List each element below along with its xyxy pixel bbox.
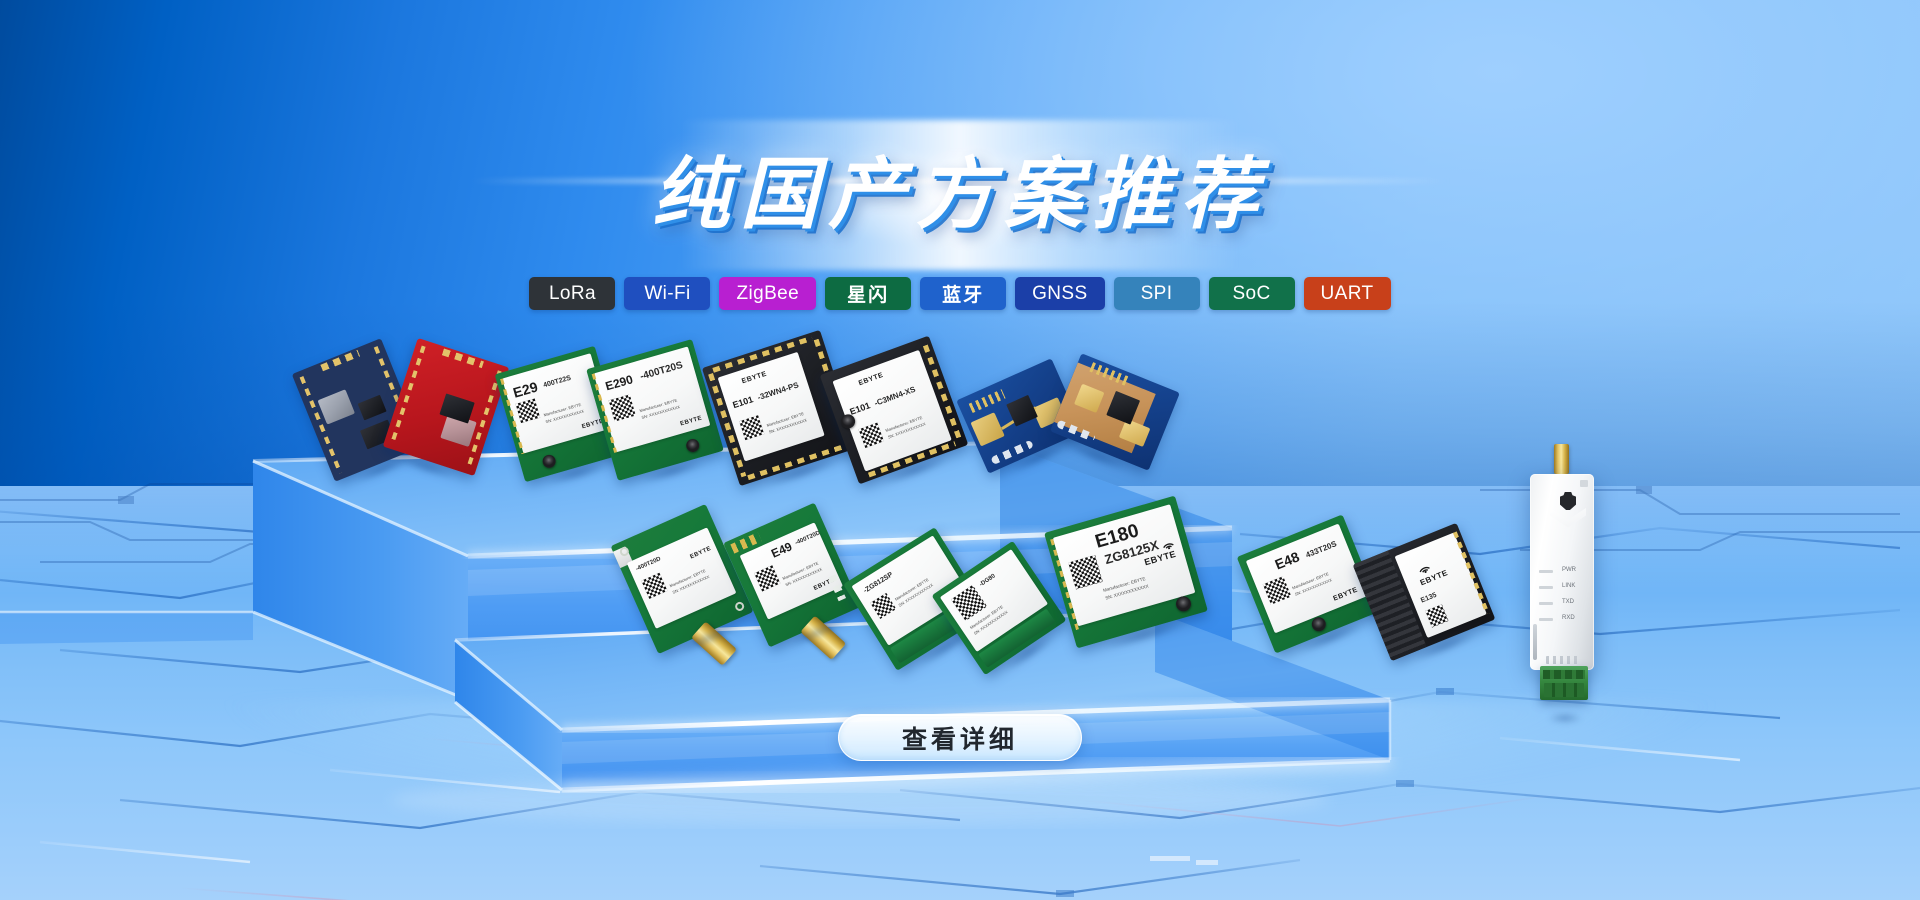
module-label-name: E29 xyxy=(511,378,539,400)
tag-zigbee[interactable]: ZigBee xyxy=(719,277,816,310)
view-details-button[interactable]: 查看详细 xyxy=(838,714,1082,761)
module-label-sub: 400T22S xyxy=(543,375,572,390)
module-brand: EBYTE xyxy=(689,546,712,561)
module-label-sub: -400T20S xyxy=(639,360,684,383)
module-label-sub: 433T20S xyxy=(1304,539,1337,560)
tag-xingshan[interactable]: 星闪 xyxy=(825,277,911,310)
module-label-name: -400T20D xyxy=(635,556,662,572)
ebyte-logo-mark xyxy=(1560,492,1576,510)
page-title: 纯国产方案推荐 xyxy=(652,150,1268,244)
module-label-name: E135 xyxy=(1420,592,1438,605)
terminal-block xyxy=(1540,666,1588,700)
title-section: 纯国产方案推荐 xyxy=(0,150,1920,244)
tag-label: LoRa xyxy=(549,283,596,305)
tag-label: GNSS xyxy=(1032,283,1087,305)
module-brand: EBYTE xyxy=(858,372,885,387)
gateway-port-label: TXD xyxy=(1562,599,1574,605)
tag-label: SoC xyxy=(1232,283,1270,305)
module-brand: EBYTE xyxy=(741,371,768,386)
tag-label: UART xyxy=(1321,283,1374,305)
tag-label: Wi-Fi xyxy=(644,283,690,305)
module-label-name: -ZG812SP xyxy=(862,571,894,594)
module-label-name: -DG80 xyxy=(979,573,997,588)
gateway-port-label: PWR xyxy=(1562,567,1576,573)
view-details-label: 查看详细 xyxy=(902,720,1018,756)
gateway-port-label: RXD xyxy=(1562,615,1575,621)
module-label-sub: -C3MN4-XS xyxy=(873,385,917,408)
tag-label: 蓝牙 xyxy=(942,280,984,307)
module-label-sub: -400T20D xyxy=(794,530,821,546)
tag-uart[interactable]: UART xyxy=(1304,277,1391,310)
tag-wifi[interactable]: Wi-Fi xyxy=(624,277,710,310)
antenna-connector xyxy=(1554,444,1569,474)
module-label-sub: -32WN4-PS xyxy=(756,380,799,402)
tag-soc[interactable]: SoC xyxy=(1209,277,1295,310)
module-brand: EBYTE xyxy=(1332,586,1359,602)
module-label-name: E48 xyxy=(1273,548,1302,572)
module-label-name: E49 xyxy=(769,539,794,560)
promo-banner: E29 400T22S Manufacturer: EBYTE SN: XXXX… xyxy=(0,0,1920,900)
module-label-name: E290 xyxy=(604,372,635,393)
tag-gnss[interactable]: GNSS xyxy=(1015,277,1104,310)
tag-bluetooth[interactable]: 蓝牙 xyxy=(920,277,1006,310)
tag-label: 星闪 xyxy=(847,280,889,307)
module-brand: EBYTE xyxy=(680,415,703,427)
module-label-name: E101 xyxy=(731,394,754,410)
technology-tag-row: LoRa Wi-Fi ZigBee 星闪 蓝牙 GNSS SPI SoC UAR… xyxy=(0,277,1920,310)
product-gateway-din-rail: PWR LINK TXD RXD xyxy=(1530,460,1600,710)
gateway-port-label: LINK xyxy=(1562,583,1575,589)
tag-label: SPI xyxy=(1141,283,1173,305)
tag-spi[interactable]: SPI xyxy=(1114,277,1200,310)
tag-label: ZigBee xyxy=(736,283,799,305)
tag-lora[interactable]: LoRa xyxy=(529,277,615,310)
